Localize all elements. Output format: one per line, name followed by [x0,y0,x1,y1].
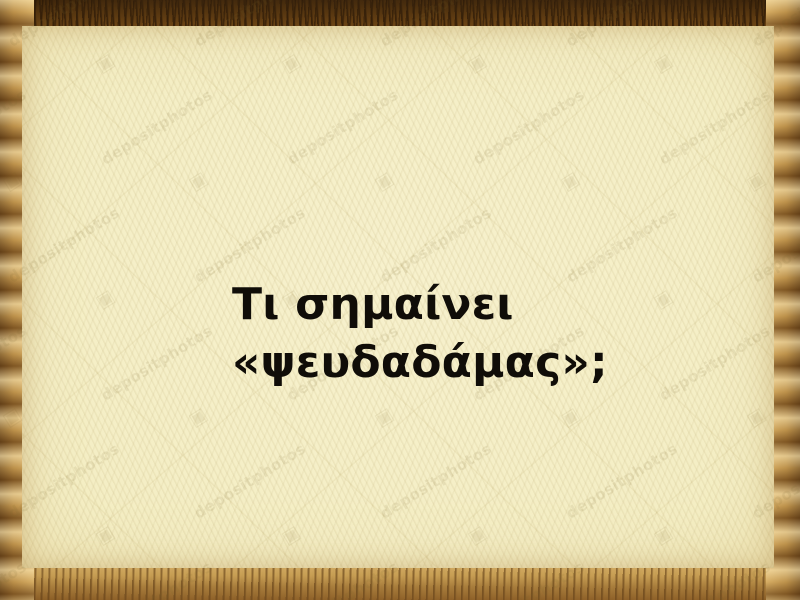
slide-text-line-1: Τι σημαίνει [232,276,652,334]
slide-canvas: depositphotos▣depositphotos▣depositphoto… [0,0,800,600]
slide-text-block: Τι σημαίνει «ψευδαδάμας»; [232,276,652,392]
slide-text-line-2: «ψευδαδάμας»; [232,334,652,392]
